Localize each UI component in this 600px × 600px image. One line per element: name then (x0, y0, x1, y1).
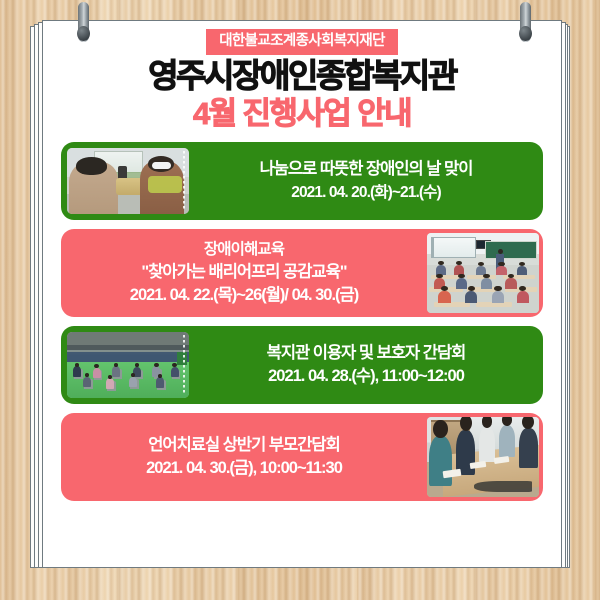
list-item[interactable]: 복지관 이용자 및 보호자 간담회 2021. 04. 28.(수), 11:0… (61, 326, 543, 404)
program-category: 장애이해교육 (204, 239, 284, 261)
poster-header: 대한불교조계종사회복지재단 영주시장애인종합복지관 4월 진행사업 안내 (43, 21, 561, 131)
dotted-divider (183, 335, 185, 395)
program-title: 언어치료실 상반기 부모간담회 (148, 434, 340, 457)
program-schedule: 2021. 04. 30.(금), 10:00~11:30 (146, 457, 342, 480)
dotted-divider (183, 151, 185, 211)
list-item[interactable]: 장애이해교육 "찾아가는 배리어프리 공감교육" 2021. 04. 22.(목… (61, 229, 543, 317)
program-title: 복지관 이용자 및 보호자 간담회 (267, 342, 466, 365)
program-schedule: 2021. 04. 20.(화)~21.(수) (291, 182, 441, 204)
program-thumbnail (427, 233, 539, 313)
binder-pin-left-icon (76, 2, 91, 46)
program-schedule: 2021. 04. 28.(수), 11:00~12:00 (268, 365, 464, 388)
program-text: 나눔으로 따뜻한 장애인의 날 맞이 2021. 04. 20.(화)~21.(… (189, 142, 543, 220)
program-text: 장애이해교육 "찾아가는 배리어프리 공감교육" 2021. 04. 22.(목… (61, 229, 427, 317)
page-subtitle: 4월 진행사업 안내 (43, 96, 561, 131)
program-schedule: 2021. 04. 22.(목)~26(월)/ 04. 30.(금) (130, 284, 358, 307)
program-text: 복지관 이용자 및 보호자 간담회 2021. 04. 28.(수), 11:0… (189, 326, 543, 404)
program-thumbnail (427, 417, 539, 497)
binder-pin-right-icon (518, 2, 533, 46)
list-item[interactable]: 나눔으로 따뜻한 장애인의 날 맞이 2021. 04. 20.(화)~21.(… (61, 142, 543, 220)
program-title: "찾아가는 배리어프리 공감교육" (141, 261, 346, 284)
page-title: 영주시장애인종합복지관 (43, 58, 561, 95)
program-thumbnail (67, 332, 189, 398)
program-list: 나눔으로 따뜻한 장애인의 날 맞이 2021. 04. 20.(화)~21.(… (43, 142, 561, 501)
program-text: 언어치료실 상반기 부모간담회 2021. 04. 30.(금), 10:00~… (61, 413, 427, 501)
program-thumbnail (67, 148, 189, 214)
poster-card: 대한불교조계종사회복지재단 영주시장애인종합복지관 4월 진행사업 안내 나눔으… (42, 20, 562, 568)
list-item[interactable]: 언어치료실 상반기 부모간담회 2021. 04. 30.(금), 10:00~… (61, 413, 543, 501)
program-title: 나눔으로 따뜻한 장애인의 날 맞이 (260, 158, 473, 181)
organization-badge: 대한불교조계종사회복지재단 (206, 29, 398, 55)
